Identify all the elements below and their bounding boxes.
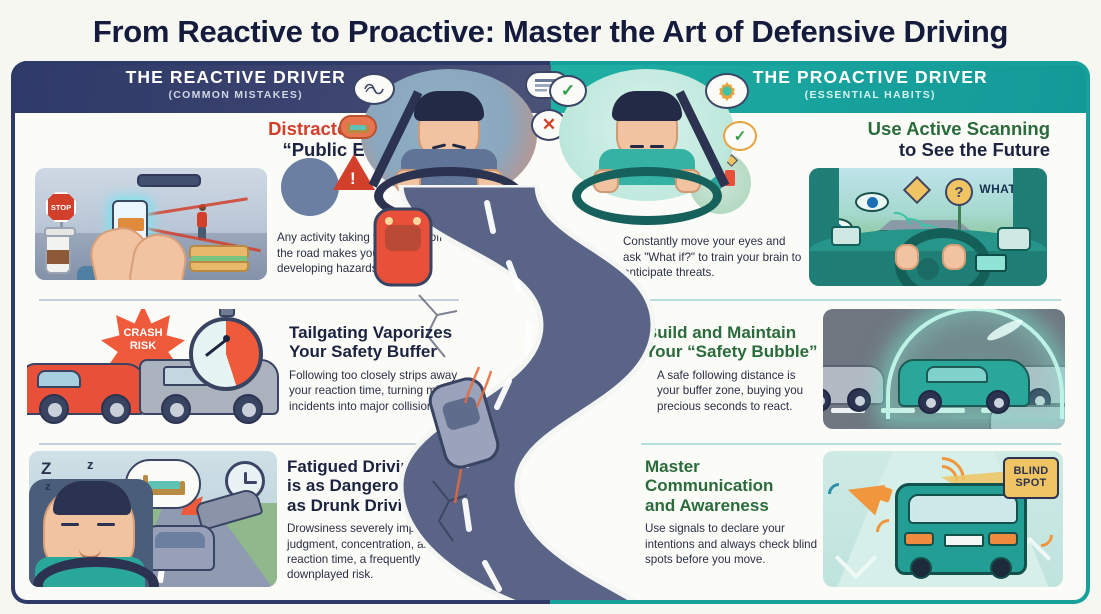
proactive-item-3-illustration: BLIND SPOT [823,451,1063,587]
reactive-item-3-heading-line2: is as Dangerous [287,476,418,495]
shattered-circle-icon [281,158,339,216]
reactive-header-subtitle: (COMMON MISTAKES) [11,89,461,101]
sleep-z-icon: z [87,457,94,472]
sedan-icon [143,525,215,571]
sleep-z-icon: z [45,481,51,493]
hand-icon [942,244,966,270]
proactive-column: Use Active Scanning to See the Future Co… [619,113,1084,604]
row-divider [39,443,459,445]
proactive-item-communication: Master Communication and Awareness Use s… [619,451,1084,601]
sandwich-icon [189,240,249,272]
proactive-item-2-heading: Build and Maintain Your “Safety Bubble” [645,323,819,362]
blind-spot-line2: SPOT [1015,478,1046,490]
proactive-item-active-scanning: Use Active Scanning to See the Future Co… [619,118,1084,296]
side-mirror-icon [997,227,1031,251]
crash-risk-line2: RISK [130,340,156,352]
hand-icon [895,244,919,270]
reactive-item-3-body: Drowsiness severely impairs judgment, co… [287,521,467,583]
proactive-item-1-illustration: ? WHAT IF? [809,168,1047,286]
side-mirror-icon [831,226,861,246]
reactive-item-2-body: Following too closely strips away your r… [289,368,469,414]
proactive-item-1-heading: Use Active Scanning to See the Future [619,118,1084,160]
reactive-item-1-illustration: STOP [35,168,267,280]
row-divider [39,299,459,301]
reactive-item-2-heading-accent: Tailgating Vaporizes [289,323,452,342]
reactive-item-distracted-driving: Distracted Driving is “Public Enemy #1” … [17,118,482,296]
reactive-header: THE REACTIVE DRIVER (COMMON MISTAKES) [11,61,551,113]
proactive-item-3-heading: Master Communication and Awareness [645,457,819,515]
rearview-mirror-icon [137,174,201,187]
reactive-item-3-heading-line3: as Drunk Driving [287,496,423,515]
proactive-item-1-heading-accent: Use Active Scanning [868,118,1050,139]
infographic-card: THE REACTIVE DRIVER (COMMON MISTAKES) TH… [11,61,1090,604]
reactive-item-3-heading-accent: Fatigued Driving [287,457,421,476]
proactive-item-2-heading-accent: Build and Maintain [645,323,796,342]
row-divider [641,443,1061,445]
proactive-header: THE PROACTIVE DRIVER (ESSENTIAL HABITS) [551,61,1091,113]
proactive-item-3-heading-line3: and Awareness [645,496,769,515]
reactive-item-1-heading-rest: is [427,118,448,139]
proactive-header-title: THE PROACTIVE DRIVER [651,67,1091,87]
crash-risk-line1: CRASH [123,327,162,339]
page-title: From Reactive to Proactive: Master the A… [0,0,1101,47]
proactive-item-1-body: Constantly move your eyes and ask "What … [623,234,803,280]
stopwatch-icon [189,317,263,391]
reactive-item-2-illustration: CRASH RISK [27,309,279,431]
reactive-item-tailgating: CRASH RISK Tailgat [17,309,482,439]
content-columns: Distracted Driving is “Public Enemy #1” … [11,113,1090,604]
reactive-item-2-heading: Tailgating Vaporizes Your Safety Buffer [289,323,469,362]
row-divider [641,299,1061,301]
reactive-item-3-illustration: Z z z [29,451,277,587]
proactive-item-2-illustration [823,309,1065,429]
reactive-item-fatigued-driving: Z z z Fatigued Driving is as Dangerous a… [17,451,482,601]
proactive-item-2-heading-line2: Your “Safety Bubble” [645,342,818,361]
reactive-item-3-heading: Fatigued Driving is as Dangerous as Drun… [287,457,467,515]
reactive-header-title: THE REACTIVE DRIVER [11,67,461,87]
dashboard-screen-icon [975,254,1007,272]
teal-car-icon [898,359,1030,407]
reactive-column: Distracted Driving is “Public Enemy #1” … [17,113,482,604]
coffee-cup-icon [45,232,71,274]
red-car-icon [27,363,146,415]
reactive-item-2-heading-line2: Your Safety Buffer [289,342,437,361]
sleep-z-icon: Z [41,459,51,479]
reactive-item-1-heading: Distracted Driving is “Public Enemy #1” [17,118,482,160]
proactive-item-1-heading-line2: to See the Future [899,139,1050,160]
proactive-item-3-heading-line2: Communication [645,476,773,495]
stop-sign-icon: STOP [46,192,76,222]
blind-spot-tag: BLIND SPOT [1003,457,1059,499]
proactive-item-2-body: A safe following distance is your buffer… [645,368,819,414]
pedestrian-icon [197,206,207,240]
proactive-item-safety-bubble: Build and Maintain Your “Safety Bubble” … [619,309,1084,439]
section-header-band: THE REACTIVE DRIVER (COMMON MISTAKES) TH… [11,61,1090,113]
reactive-item-1-heading-accent: Distracted Driving [268,118,427,139]
silver-car-icon [823,365,885,405]
proactive-item-3-heading-accent: Master [645,457,700,476]
proactive-item-3-body: Use signals to declare your intentions a… [645,521,819,567]
proactive-header-subtitle: (ESSENTIAL HABITS) [651,89,1091,101]
question-sign-icon: ? [945,178,973,206]
reactive-item-1-body: Any activity taking your focus off the r… [277,230,455,276]
